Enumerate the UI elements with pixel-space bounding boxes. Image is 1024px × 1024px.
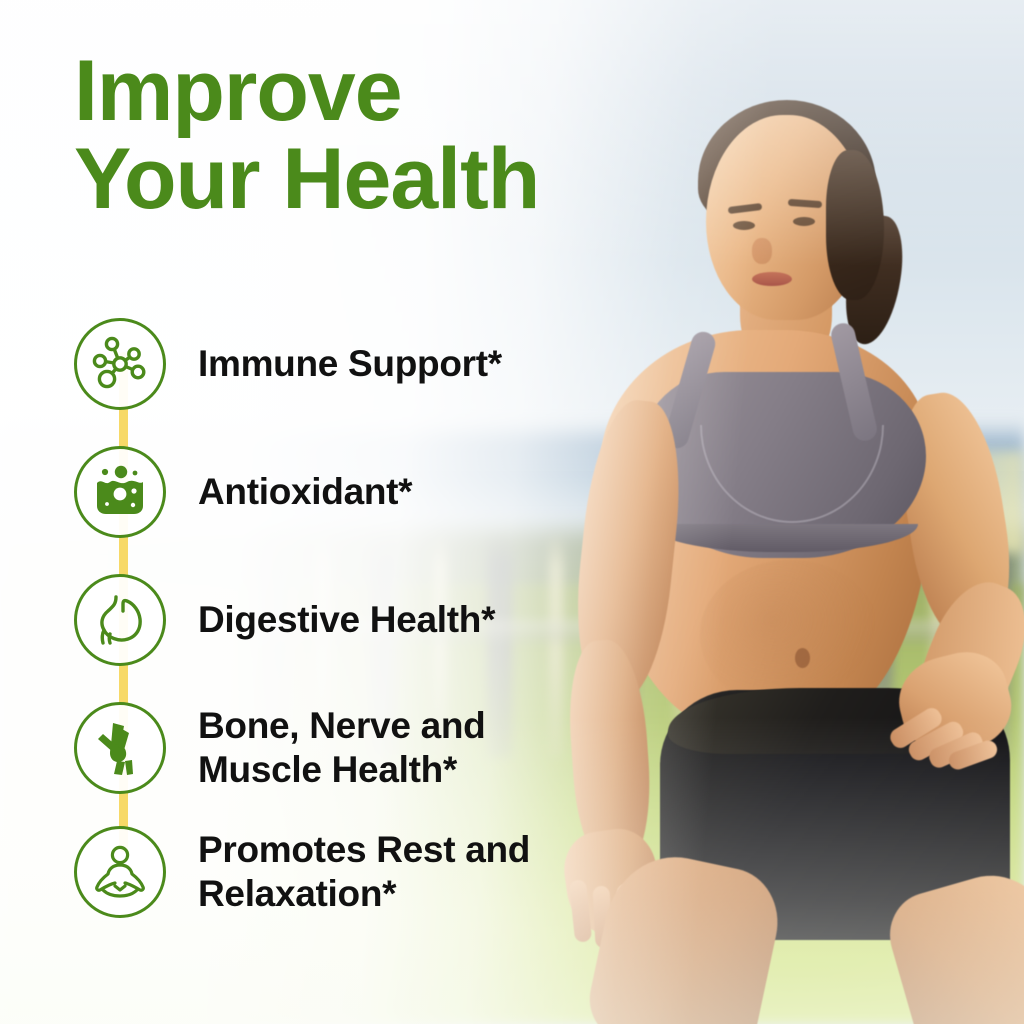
- benefit-label: Promotes Rest and Relaxation*: [198, 828, 530, 915]
- benefit-label: Digestive Health*: [198, 598, 495, 642]
- list-item: Antioxidant*: [74, 428, 634, 556]
- knee-joint-icon: [74, 702, 166, 794]
- poster-content: Improve Your Health: [0, 0, 1024, 1024]
- list-item: Immune Support*: [74, 300, 634, 428]
- molecule-icon: [74, 318, 166, 410]
- benefit-label: Bone, Nerve and Muscle Health*: [198, 704, 485, 791]
- list-item: Bone, Nerve and Muscle Health*: [74, 684, 634, 812]
- health-benefits-poster: Improve Your Health: [0, 0, 1024, 1024]
- benefit-label: Antioxidant*: [198, 470, 412, 514]
- benefits-list: Immune Support* Antioxidan: [74, 300, 634, 932]
- bubbling-beaker-icon: [74, 446, 166, 538]
- benefit-label: Immune Support*: [198, 342, 502, 386]
- stomach-icon: [74, 574, 166, 666]
- list-item: Promotes Rest and Relaxation*: [74, 812, 634, 932]
- meditation-icon: [74, 826, 166, 918]
- page-title: Improve Your Health: [74, 48, 674, 223]
- list-item: Digestive Health*: [74, 556, 634, 684]
